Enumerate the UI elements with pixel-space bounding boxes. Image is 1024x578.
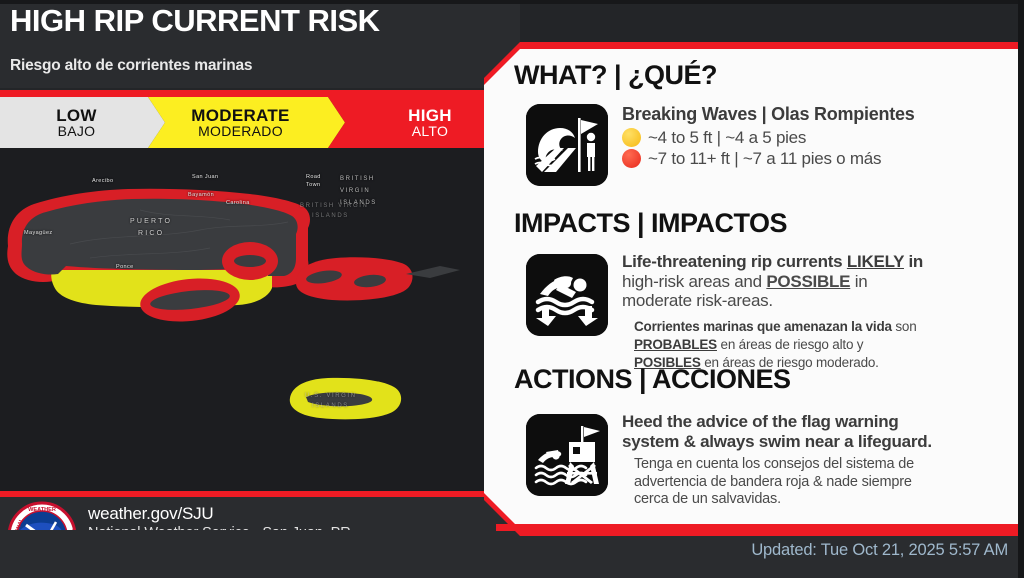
what-title: Breaking Waves | Olas Rompientes <box>622 104 1016 125</box>
high-wave-dot <box>622 149 641 168</box>
lifeguard-tower-icon <box>526 414 608 496</box>
impacts-en-line2: high-risk areas and POSSIBLE in <box>622 272 1016 292</box>
risk-moderate-label-en: MODERATE <box>191 107 289 124</box>
risk-segment-low: LOW BAJO <box>0 97 165 148</box>
section-heading-impacts: IMPACTS | IMPACTOS <box>514 208 787 239</box>
impacts-es-line1: Corrientes marinas que amenazan la vida … <box>634 318 1016 336</box>
impacts-en-t4: in <box>850 272 867 291</box>
wave-height-high: ~7 to 11+ ft | ~7 a 11 pies o más <box>648 149 881 169</box>
impacts-text-block: Life-threatening rip currents LIKELY in … <box>622 252 1016 372</box>
risk-high-label-en: HIGH <box>408 107 452 124</box>
map-graphic <box>0 148 520 491</box>
page-subtitle: Riesgo alto de corrientes marinas <box>10 57 252 75</box>
wave-height-row-moderate: ~4 to 5 ft | ~4 a 5 pies <box>622 128 1016 148</box>
actions-es-block: Tenga en cuenta los consejos del sistema… <box>634 456 1016 508</box>
risk-low-label-es: BAJO <box>56 124 97 138</box>
section-heading-actions: ACTIONS | ACCIONES <box>514 364 791 395</box>
top-edge-strip <box>0 0 1024 4</box>
impacts-es-t3: en áreas de riesgo alto y <box>717 337 863 352</box>
info-panel: WHAT? | ¿QUÉ? <box>484 42 1024 536</box>
impacts-en-line1: Life-threatening rip currents LIKELY in <box>622 252 1016 272</box>
risk-map[interactable]: Arecibo San Juan Bayamón Carolina Mayagü… <box>0 148 520 491</box>
impacts-probables-emphasis: PROBABLES <box>634 337 717 352</box>
impacts-likely-emphasis: LIKELY <box>847 252 904 271</box>
page-title: HIGH RIP CURRENT RISK <box>10 3 380 39</box>
wave-height-moderate: ~4 to 5 ft | ~4 a 5 pies <box>648 128 806 148</box>
actions-es-line3: cerca de un salvavidas. <box>634 491 1016 508</box>
impacts-possible-emphasis: POSSIBLE <box>766 272 850 291</box>
risk-low-label-en: LOW <box>56 107 97 124</box>
actions-en-line2: system & always swim near a lifeguard. <box>622 432 1016 452</box>
risk-moderate-label-es: MODERADO <box>191 124 289 138</box>
impacts-es-t1: Corrientes marinas que amenazan la vida <box>634 319 892 334</box>
bottom-strip-red-divider <box>496 524 1024 531</box>
risk-high-label-es: ALTO <box>408 124 452 138</box>
impacts-en-t3: high-risk areas and <box>622 272 766 291</box>
actions-es-line1: Tenga en cuenta los consejos del sistema… <box>634 456 1016 473</box>
risk-scale-bar: LOW BAJO MODERATE MODERADO HIGH ALTO <box>0 97 516 148</box>
actions-text-block: Heed the advice of the flag warning syst… <box>622 412 1016 509</box>
what-text-block: Breaking Waves | Olas Rompientes ~4 to 5… <box>622 104 1016 168</box>
footer-website-url[interactable]: weather.gov/SJU <box>88 504 214 524</box>
impacts-en-t1: Life-threatening rip currents <box>622 252 847 271</box>
graphic-canvas: HIGH RIP CURRENT RISK Riesgo alto de cor… <box>0 0 1024 578</box>
actions-es-line2: advertencia de bandera roja & nade siemp… <box>634 474 1016 491</box>
breaking-waves-icon <box>526 104 608 186</box>
impacts-es-line2: PROBABLES en áreas de riesgo alto y <box>634 336 1016 354</box>
actions-en-line1: Heed the advice of the flag warning <box>622 412 1016 432</box>
updated-timestamp: Updated: Tue Oct 21, 2025 5:57 AM <box>751 541 1008 560</box>
moderate-wave-dot <box>622 128 641 147</box>
header-red-divider <box>0 90 516 97</box>
right-edge-strip <box>1018 0 1024 578</box>
svg-text:WEATHER: WEATHER <box>28 507 56 513</box>
swimmer-rip-current-icon <box>526 254 608 336</box>
wave-height-row-high: ~7 to 11+ ft | ~7 a 11 pies o más <box>622 149 1016 169</box>
impacts-en-line3: moderate risk-areas. <box>622 291 1016 311</box>
impacts-en-t2: in <box>904 252 923 271</box>
risk-segment-moderate: MODERATE MODERADO <box>148 97 345 148</box>
impacts-es-t2: son <box>892 319 917 334</box>
section-heading-what: WHAT? | ¿QUÉ? <box>514 60 717 91</box>
